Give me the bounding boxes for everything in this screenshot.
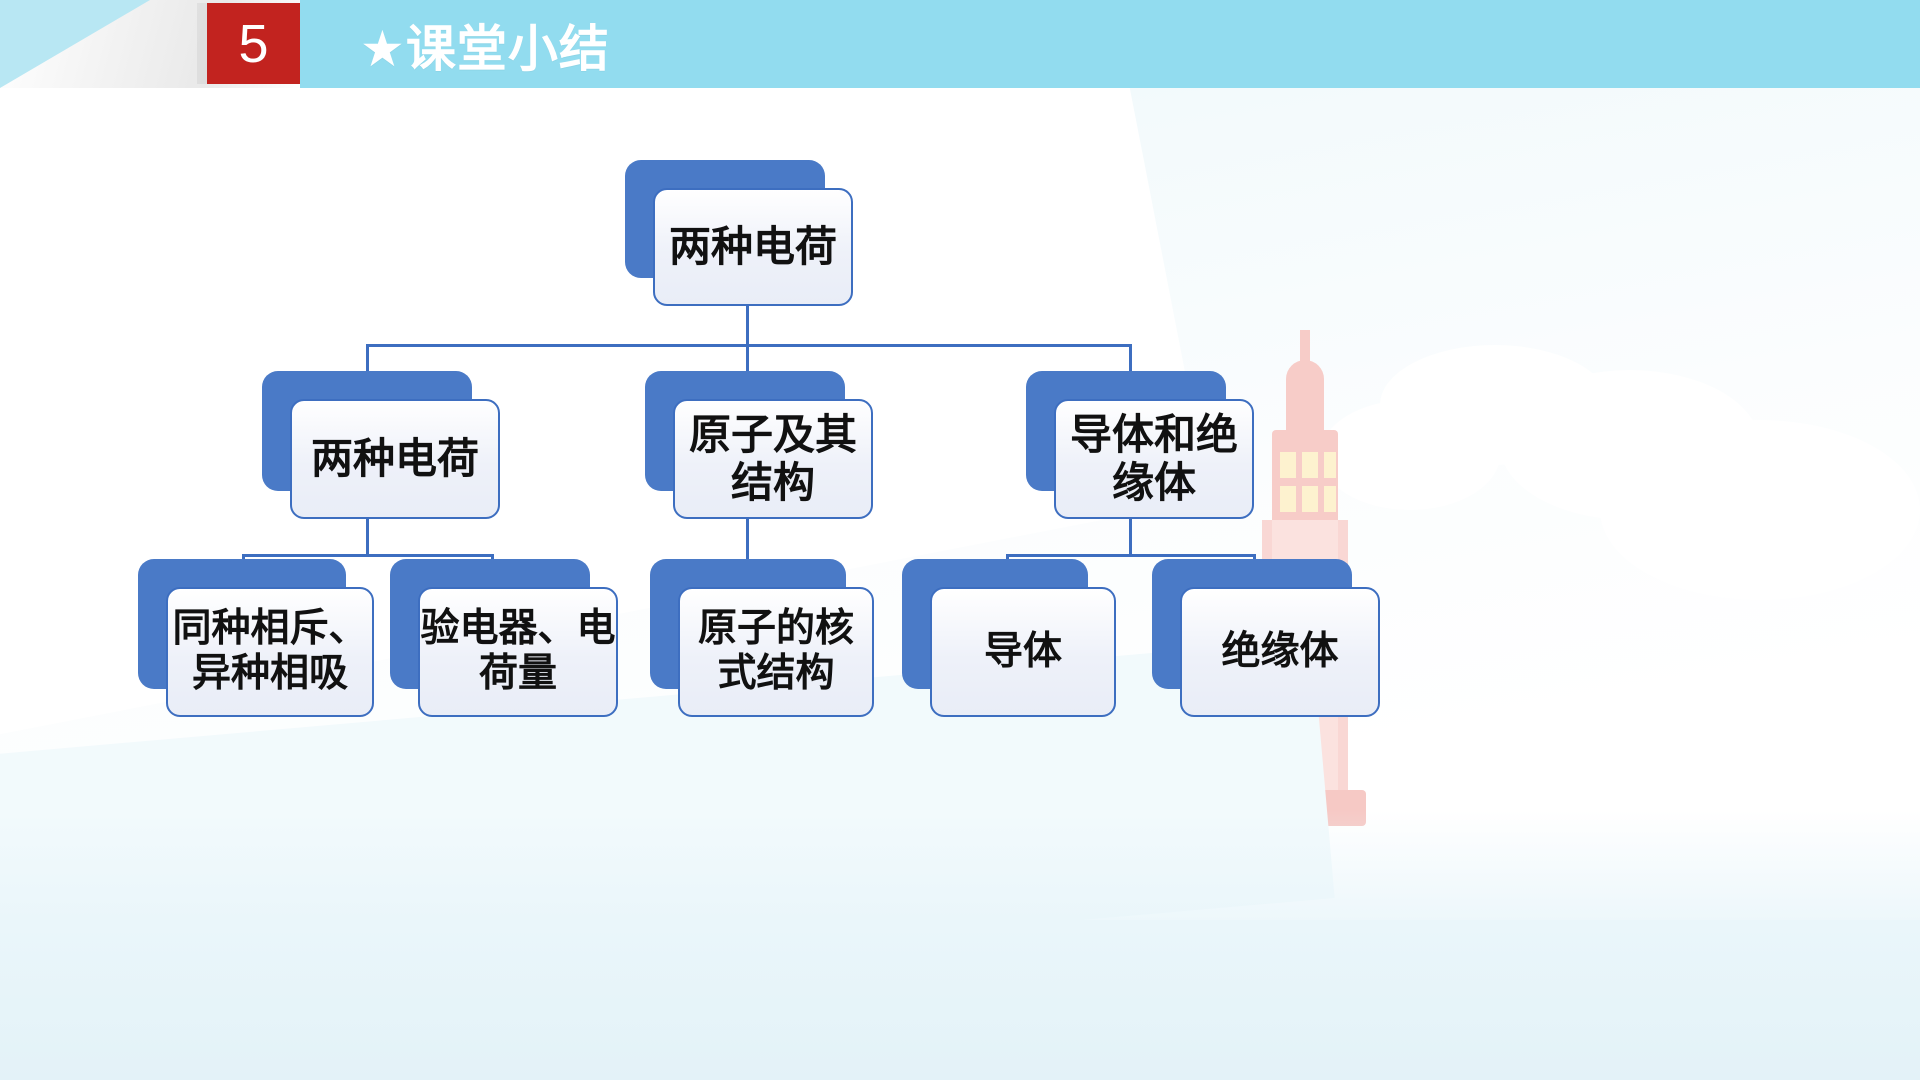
header-left-triangle bbox=[0, 0, 150, 88]
node-root[interactable]: 两种电荷 bbox=[625, 160, 825, 278]
connector-level2-drop-1 bbox=[366, 344, 369, 374]
node-level2-atom-structure[interactable]: 原子及其结构 bbox=[645, 371, 845, 491]
connector-level2-bus bbox=[366, 344, 1132, 347]
node-level2-two-charges[interactable]: 两种电荷 bbox=[262, 371, 472, 491]
connector-root-down bbox=[746, 306, 749, 346]
node-level3-conductor[interactable]: 导体 bbox=[902, 559, 1088, 689]
connector-level2-drop-3 bbox=[1129, 344, 1132, 374]
node-label: 两种电荷 bbox=[290, 399, 500, 519]
node-label-root: 两种电荷 bbox=[653, 188, 853, 306]
connector-nodeC-down bbox=[1129, 518, 1132, 556]
node-level3-electroscope-charge[interactable]: 验电器、电荷量 bbox=[390, 559, 590, 689]
node-level3-nuclear-model[interactable]: 原子的核式结构 bbox=[650, 559, 846, 689]
connector-nodeC-bus bbox=[1006, 554, 1256, 557]
connector-level2-drop-2 bbox=[746, 344, 749, 374]
node-level2-conductor-insulator[interactable]: 导体和绝缘体 bbox=[1026, 371, 1226, 491]
node-label: 验电器、电荷量 bbox=[418, 587, 618, 717]
node-level3-repel-attract[interactable]: 同种相斥、异种相吸 bbox=[138, 559, 346, 689]
node-label: 导体 bbox=[930, 587, 1116, 717]
page-title: ★课堂小结 bbox=[360, 14, 610, 76]
node-label: 原子及其结构 bbox=[673, 399, 873, 519]
node-label: 同种相斥、异种相吸 bbox=[166, 587, 374, 717]
node-label: 原子的核式结构 bbox=[678, 587, 874, 717]
section-number: 5 bbox=[238, 17, 268, 71]
section-number-badge: 5 bbox=[207, 3, 300, 84]
node-label: 导体和绝缘体 bbox=[1054, 399, 1254, 519]
mind-map-diagram: 两种电荷 两种电荷 原子及其结构 导体和绝缘体 同种相斥、异种相吸 验电器、电荷… bbox=[0, 88, 1920, 1080]
connector-nodeA-down bbox=[366, 518, 369, 556]
connector-nodeA-bus bbox=[242, 554, 494, 557]
node-level3-insulator[interactable]: 绝缘体 bbox=[1152, 559, 1352, 689]
node-label: 绝缘体 bbox=[1180, 587, 1380, 717]
